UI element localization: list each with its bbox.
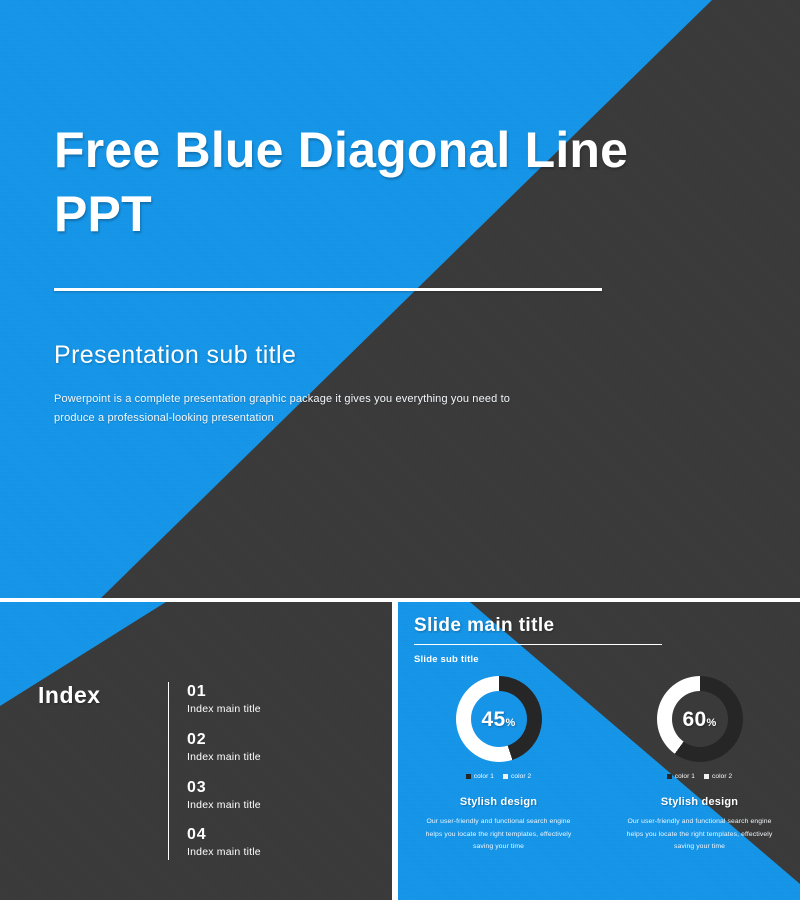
donut-chart-45[interactable]: 45% (456, 676, 542, 762)
cover-divider-rule (54, 288, 602, 291)
donut-value-label: 60% (682, 709, 716, 730)
cover-slide[interactable]: Free Blue Diagonal Line PPT Presentation… (0, 0, 800, 598)
legend-label: color 1 (675, 773, 695, 780)
index-item-label: Index main title (187, 750, 261, 765)
legend-label: color 1 (474, 773, 494, 780)
donut-center: 45% (471, 691, 527, 747)
chart-legend: color 1 color 2 (466, 773, 531, 780)
cover-body-text: Powerpoint is a complete presentation gr… (54, 390, 524, 429)
legend-label: color 2 (511, 773, 531, 780)
charts-row: 45% color 1 color 2 Stylish design Our u… (398, 676, 800, 854)
caption-body: Our user-friendly and functional search … (624, 816, 776, 854)
list-item[interactable]: 02 Index main title (187, 730, 261, 765)
charts-slide[interactable]: Slide main title Slide sub title 45% col… (398, 602, 800, 900)
screenshot-canvas: Free Blue Diagonal Line PPT Presentation… (0, 0, 800, 900)
slide-main-title: Slide main title (414, 616, 664, 637)
donut-center: 60% (672, 691, 728, 747)
index-item-label: Index main title (187, 845, 261, 860)
donut-chart-60[interactable]: 60% (657, 676, 743, 762)
slide-sub-title: Slide sub title (414, 654, 664, 665)
legend-item-color-1[interactable]: color 1 (466, 773, 494, 780)
percent-symbol: % (505, 717, 515, 729)
index-item-number: 03 (187, 778, 261, 798)
index-slide[interactable]: Index 01 Index main title 02 Index main … (0, 602, 392, 900)
caption-title: Stylish design (661, 796, 738, 808)
cover-content: Free Blue Diagonal Line PPT Presentation… (54, 118, 694, 429)
title-divider-rule (414, 644, 662, 646)
legend-swatch-icon (704, 774, 709, 779)
cover-title: Free Blue Diagonal Line PPT (54, 118, 654, 246)
index-item-number: 04 (187, 825, 261, 845)
percent-symbol: % (706, 717, 716, 729)
index-item-label: Index main title (187, 798, 261, 813)
index-item-label: Index main title (187, 702, 261, 717)
donut-value-number: 45 (481, 708, 505, 731)
list-item[interactable]: 03 Index main title (187, 778, 261, 813)
donut-value-label: 45% (481, 709, 515, 730)
legend-swatch-icon (466, 774, 471, 779)
cover-subtitle: Presentation sub title (54, 341, 694, 370)
legend-item-color-2[interactable]: color 2 (704, 773, 732, 780)
charts-header: Slide main title Slide sub title (414, 616, 664, 665)
legend-item-color-1[interactable]: color 1 (667, 773, 695, 780)
caption-body: Our user-friendly and functional search … (423, 816, 575, 854)
index-list: 01 Index main title 02 Index main title … (168, 682, 261, 860)
chart-column-1: 45% color 1 color 2 Stylish design Our u… (398, 676, 599, 854)
index-item-number: 01 (187, 682, 261, 702)
index-item-number: 02 (187, 730, 261, 750)
list-item[interactable]: 01 Index main title (187, 682, 261, 717)
legend-swatch-icon (667, 774, 672, 779)
donut-value-number: 60 (682, 708, 706, 731)
list-item[interactable]: 04 Index main title (187, 825, 261, 860)
index-heading: Index (38, 682, 101, 709)
legend-item-color-2[interactable]: color 2 (503, 773, 531, 780)
chart-column-2: 60% color 1 color 2 Stylish design Our u… (599, 676, 800, 854)
legend-label: color 2 (712, 773, 732, 780)
legend-swatch-icon (503, 774, 508, 779)
caption-title: Stylish design (460, 796, 537, 808)
chart-legend: color 1 color 2 (667, 773, 732, 780)
